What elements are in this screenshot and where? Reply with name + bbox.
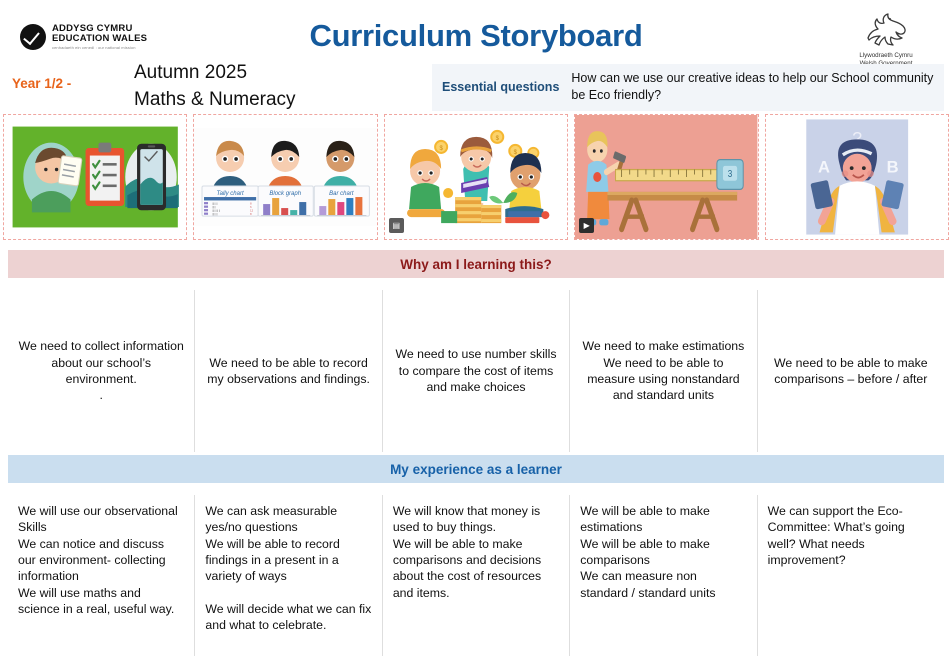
experience-section-heading: My experience as a learner: [8, 455, 944, 483]
media-card-money[interactable]: $ $ $: [384, 114, 568, 240]
media-card-row: Tally chart |||| ||||||| | |||| |||| |||…: [0, 112, 952, 242]
experience-row: We will use our observational Skills We …: [8, 495, 944, 656]
page-title: Curriculum Storyboard: [0, 18, 952, 54]
svg-text:|||| |||| ||: |||| |||| ||: [212, 208, 221, 212]
experience-section-rows: We will use our observational Skills We …: [0, 495, 952, 656]
experience-cell-1-text: We will use our observational Skills We …: [18, 503, 184, 617]
tally-chart-label: Tally chart: [217, 191, 244, 197]
experience-cell-3: We will know that money is used to buy t…: [383, 495, 570, 656]
why-cell-1-text: We need to collect information about our…: [18, 338, 184, 403]
experience-cell-4-text: We will be able to make estimations We w…: [580, 503, 746, 601]
why-cell-1: We need to collect information about our…: [8, 290, 195, 452]
why-cell-3-text: We need to use number skills to compare …: [393, 346, 559, 395]
block-graph-label: Block graph: [270, 191, 302, 197]
why-section-heading: Why am I learning this?: [8, 250, 944, 278]
term-subject-block: Autumn 2025 Maths & Numeracy: [134, 60, 296, 114]
why-cell-5-text: We need to be able to make comparisons –…: [768, 355, 934, 388]
experience-cell-5-text: We can support the Eco-Committee: What’s…: [768, 503, 934, 568]
media-card-charts[interactable]: Tally chart |||| ||||||| | |||| |||| |||…: [193, 114, 377, 240]
essential-questions-label: Essential questions: [442, 80, 571, 94]
term-label: Autumn 2025: [134, 60, 296, 87]
experience-cell-2-text: We can ask measurable yes/no questions W…: [205, 503, 371, 634]
option-b-label: B: [886, 158, 898, 177]
image-icon: ▤: [389, 218, 404, 233]
measuring-video-thumbnail: 3: [575, 115, 757, 239]
media-card-observation[interactable]: [3, 114, 187, 240]
why-cell-2-text: We need to be able to record my observat…: [205, 355, 371, 388]
experience-cell-2: We can ask measurable yes/no questions W…: [195, 495, 382, 656]
media-card-measuring-video[interactable]: 3 ▶: [574, 114, 758, 240]
play-icon[interactable]: ▶: [579, 218, 594, 233]
media-card-comparison[interactable]: ? A B: [765, 114, 949, 240]
why-cell-5: We need to be able to make comparisons –…: [758, 290, 944, 452]
essential-questions-text: How can we use our creative ideas to hel…: [571, 70, 936, 103]
observation-collecting-information-image: [4, 115, 186, 239]
why-section: Why am I learning this?: [0, 250, 952, 278]
why-section-rows: We need to collect information about our…: [0, 290, 952, 452]
experience-section: My experience as a learner: [0, 455, 952, 483]
money-and-coins-image: $ $ $: [385, 115, 567, 239]
year-group-label: Year 1/2 -: [12, 76, 71, 91]
svg-text:|||| |||: |||| |||: [212, 201, 218, 205]
svg-text:3: 3: [728, 168, 733, 179]
experience-cell-3-text: We will know that money is used to buy t…: [393, 503, 559, 601]
option-a-label: A: [818, 158, 830, 177]
experience-cell-4: We will be able to make estimations We w…: [570, 495, 757, 656]
page-header: ADDYSG CYMRU EDUCATION WALES cenhadaeth …: [0, 0, 952, 112]
why-cell-4: We need to make estimations We need to b…: [570, 290, 757, 452]
comparison-a-or-b-image: ? A B: [766, 115, 948, 239]
why-cell-2: We need to be able to record my observat…: [195, 290, 382, 452]
why-cell-3: We need to use number skills to compare …: [383, 290, 570, 452]
why-row: We need to collect information about our…: [8, 290, 944, 452]
why-cell-4-text: We need to make estimations We need to b…: [580, 338, 746, 403]
svg-text:|||| |||: |||| |||: [212, 212, 218, 216]
charts-and-graphs-image: Tally chart |||| ||||||| | |||| |||| |||…: [194, 115, 376, 239]
experience-cell-5: We can support the Eco-Committee: What’s…: [758, 495, 944, 656]
experience-cell-1: We will use our observational Skills We …: [8, 495, 195, 656]
essential-questions-box: Essential questions How can we use our c…: [432, 64, 944, 111]
svg-text:|||| |: |||| |: [212, 205, 216, 209]
subject-label: Maths & Numeracy: [134, 87, 296, 114]
bar-chart-label: Bar chart: [330, 191, 355, 197]
